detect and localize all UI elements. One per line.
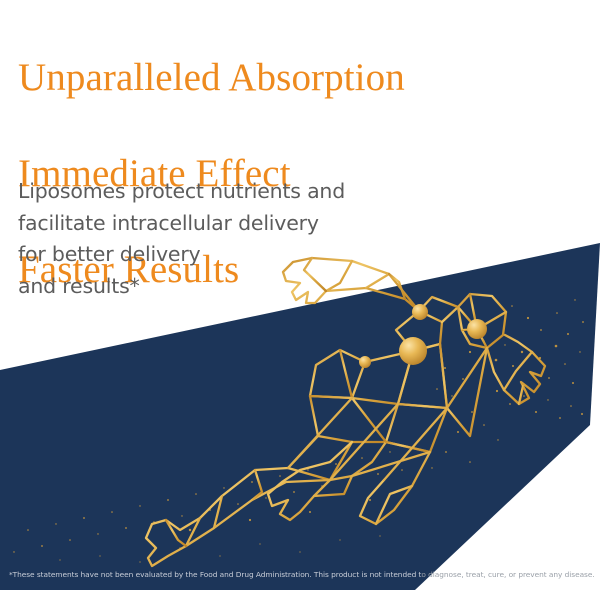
thigh-facet xyxy=(288,436,352,480)
torso-facet-e xyxy=(386,404,447,452)
strut-d xyxy=(352,452,430,476)
headline-line-1: Unparalleled Absorption xyxy=(18,54,578,102)
torso-facet-b xyxy=(398,344,447,408)
back-shoulder-blade xyxy=(310,350,365,398)
subtitle-line-3: for better delivery xyxy=(18,239,448,271)
rear-leg-fold-2 xyxy=(214,496,222,528)
torso-facet-c xyxy=(440,344,487,408)
front-leg-outline xyxy=(268,442,386,520)
rear-leg-fold-4 xyxy=(166,520,186,546)
elbow-node xyxy=(359,356,371,368)
subtitle-line-4: and results* xyxy=(18,271,448,303)
back-arm-fold-2 xyxy=(519,386,523,404)
back-facet xyxy=(340,350,352,398)
front-knee-link xyxy=(386,442,430,452)
rear-leg-fold xyxy=(252,470,262,500)
subtitle-text: Liposomes protect nutrients and facilita… xyxy=(18,176,448,302)
front-shin xyxy=(360,452,430,524)
front-shin-fold xyxy=(376,486,412,524)
rear-leg-fold-3 xyxy=(186,518,200,546)
front-leg-fold xyxy=(314,476,352,496)
disclaimer-on-navy: *These statements have not been evaluate… xyxy=(9,570,421,579)
subtitle-line-2: facilitate intracellular delivery xyxy=(18,208,448,240)
back-arm-fold xyxy=(504,352,532,390)
subtitle-line-1: Liposomes protect nutrients and xyxy=(18,176,448,208)
fda-disclaimer: *These statements have not been evaluate… xyxy=(9,570,595,580)
banner-canvas: Unparalleled Absorption Immediate Effect… xyxy=(0,0,600,600)
back-arm-outline xyxy=(487,335,545,404)
rear-leg-outline xyxy=(146,468,330,566)
hip-facet xyxy=(310,396,386,442)
strut-c xyxy=(384,408,447,480)
strut-b xyxy=(330,404,398,480)
torso-facet-d xyxy=(447,348,487,436)
disclaimer-on-white: o diagnose, treat, cure, or prevent any … xyxy=(421,570,594,579)
torso-facet-a xyxy=(352,351,413,404)
strut-a xyxy=(288,398,352,468)
